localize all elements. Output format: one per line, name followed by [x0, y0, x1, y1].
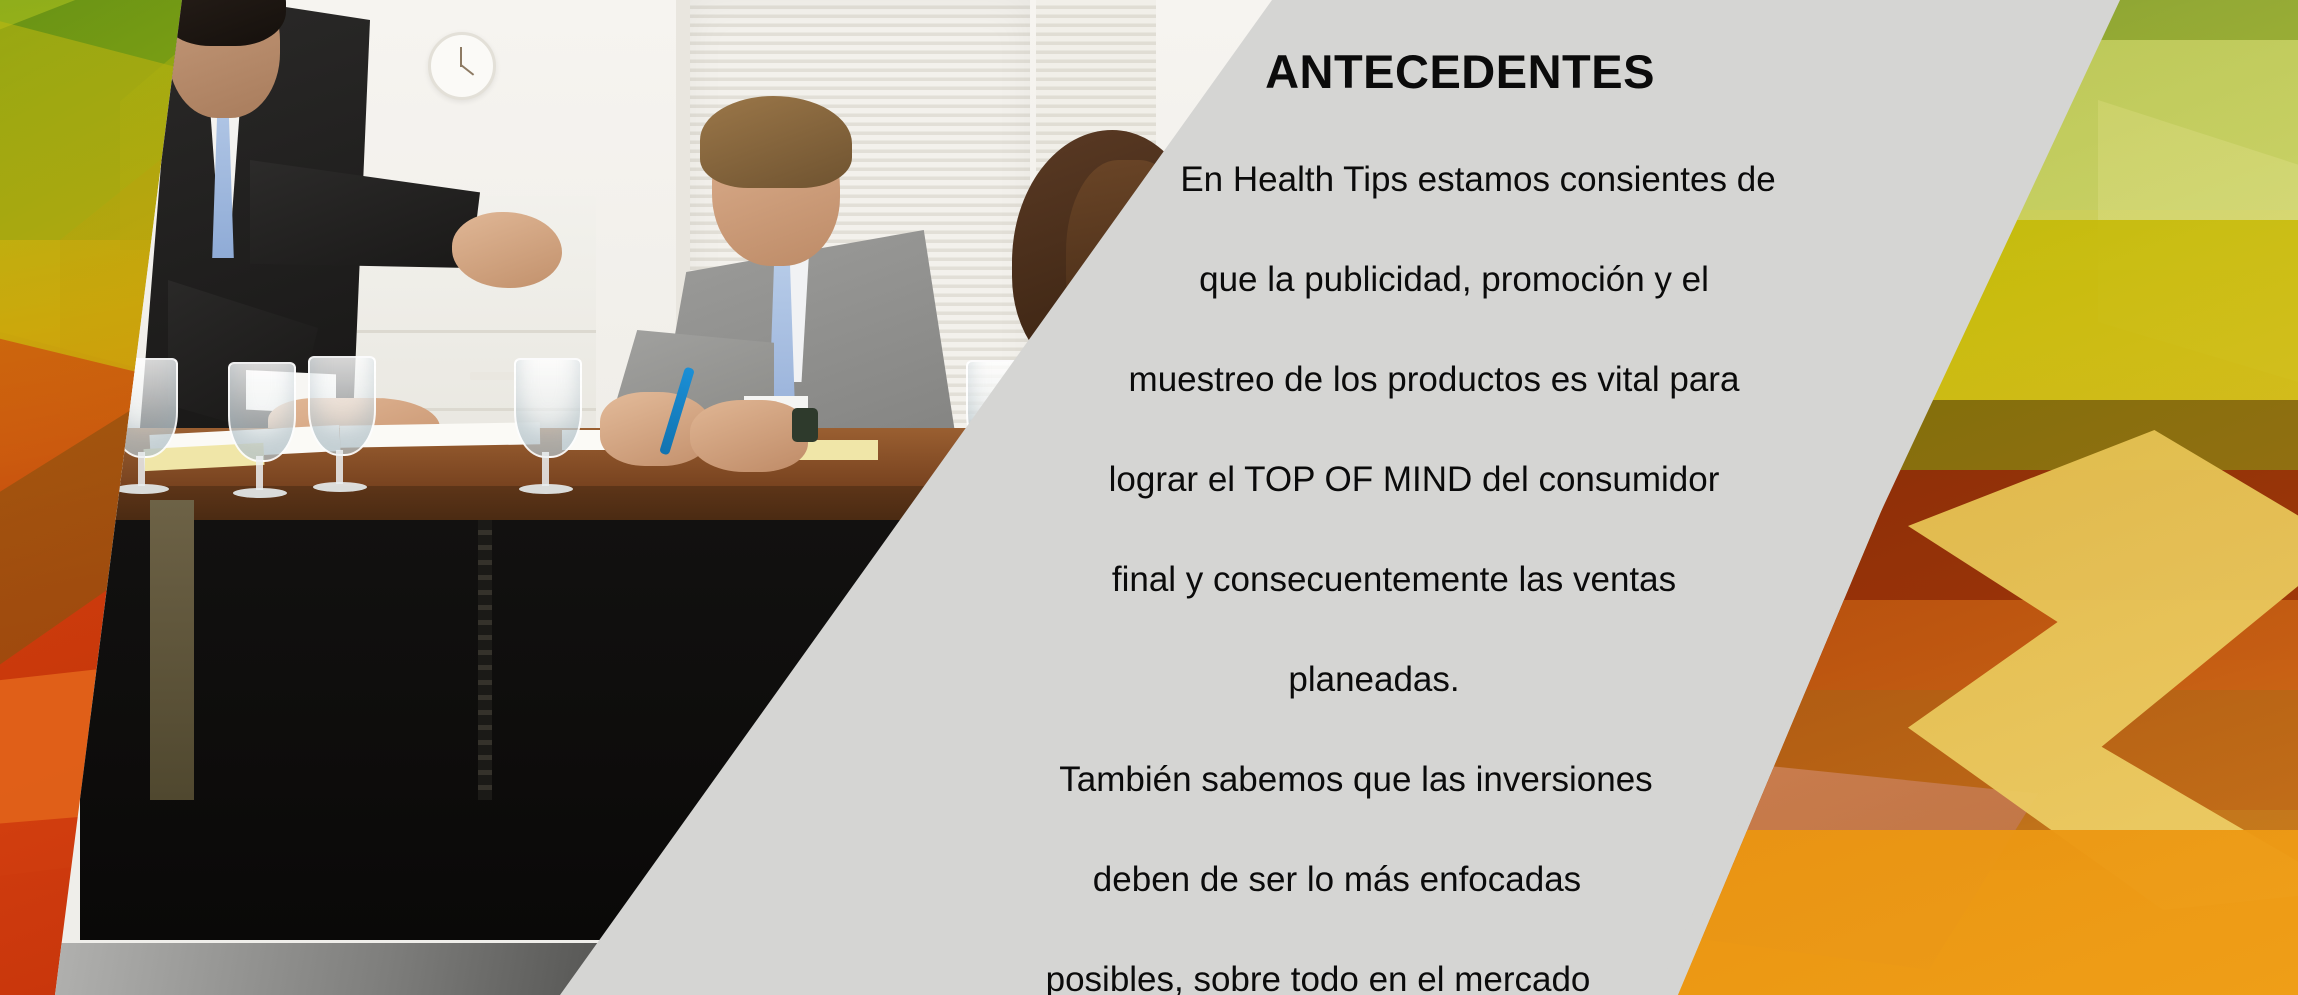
glass-foot-3: [313, 482, 367, 492]
body-line-7: deben de ser lo más enfocadas: [644, 855, 2030, 905]
body-line-1: que la publicidad, promoción y el: [878, 255, 2030, 305]
slide-canvas: ANTECEDENTES En Health Tips estamos cons…: [0, 0, 2298, 995]
table-leg-perforations: [478, 520, 492, 800]
body-paragraph: En Health Tips estamos consientes de que…: [690, 105, 2030, 995]
glass-foot-4: [519, 484, 573, 494]
glass-foot-1: [115, 484, 169, 494]
text-content: ANTECEDENTES En Health Tips estamos cons…: [690, 44, 2030, 974]
standing-man-hand: [452, 212, 562, 288]
glass-stem-1: [138, 452, 145, 486]
body-line-6: También sabemos que las inversiones: [682, 755, 2030, 805]
table-leg: [150, 500, 194, 800]
body-line-0: En Health Tips estamos consientes de: [926, 155, 2030, 205]
water-glass-2: [228, 362, 296, 462]
wall-clock-icon: [428, 32, 496, 100]
glass-stem-4: [542, 452, 549, 486]
water-glass-3: [308, 356, 376, 456]
water-glass-4: [514, 358, 582, 458]
body-line-2: muestreo de los productos es vital para: [838, 355, 2030, 405]
body-line-5: planeadas.: [718, 655, 2030, 705]
glass-foot-2: [233, 488, 287, 498]
page-title: ANTECEDENTES: [690, 44, 2030, 99]
body-line-3: lograr el TOP OF MIND del consumidor: [798, 455, 2030, 505]
glass-stem-3: [336, 450, 343, 484]
body-line-4: final y consecuentemente las ventas: [758, 555, 2030, 605]
glass-stem-2: [256, 456, 263, 490]
body-line-8: posibles, sobre todo en el mercado: [606, 955, 2030, 995]
